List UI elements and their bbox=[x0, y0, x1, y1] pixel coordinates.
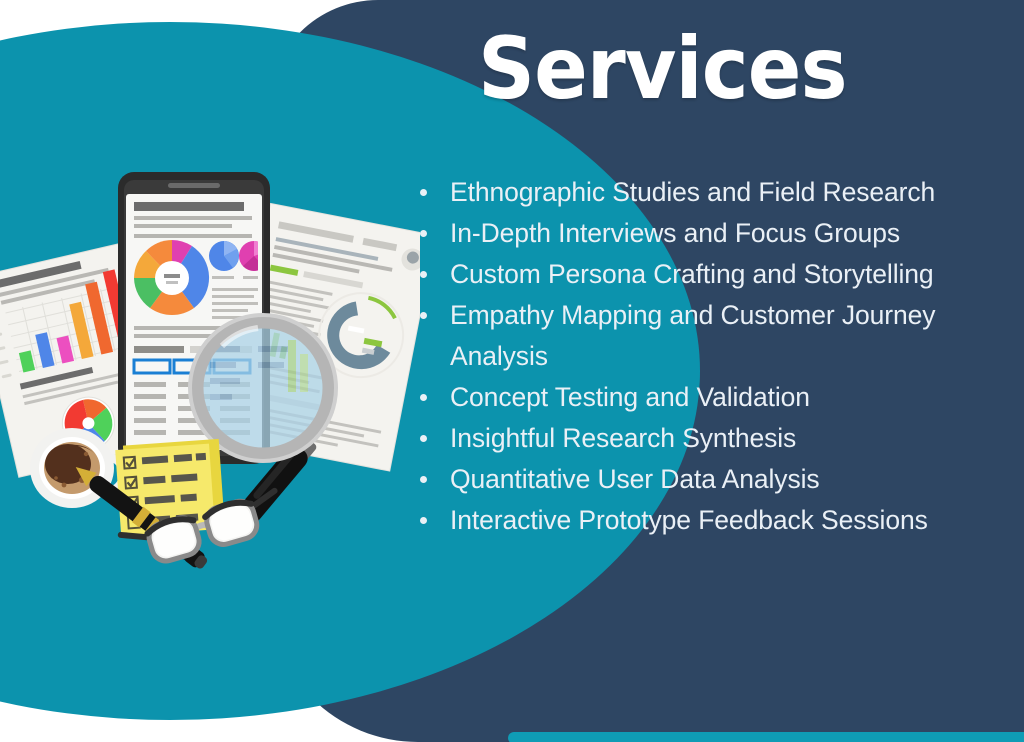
list-item: Ethnographic Studies and Field Research bbox=[404, 172, 1024, 213]
list-item: Interactive Prototype Feedback Sessions bbox=[404, 500, 1024, 541]
list-item: Insightful Research Synthesis bbox=[404, 418, 1024, 459]
list-item-label: In-Depth Interviews and Focus Groups bbox=[450, 218, 900, 248]
services-list: Ethnographic Studies and Field Research … bbox=[404, 172, 1024, 541]
bullet-dot-icon bbox=[420, 476, 427, 483]
bullet-dot-icon bbox=[420, 435, 427, 442]
slide-canvas: Services Ethnographic Studies and Field … bbox=[0, 0, 1024, 742]
page-title: Services bbox=[478, 26, 847, 112]
bullet-dot-icon bbox=[420, 271, 427, 278]
list-item-label: Ethnographic Studies and Field Research bbox=[450, 177, 935, 207]
list-item: Custom Persona Crafting and Storytelling bbox=[404, 254, 1024, 295]
list-item: Concept Testing and Validation bbox=[404, 377, 1024, 418]
list-item-label: Interactive Prototype Feedback Sessions bbox=[450, 505, 928, 535]
bullet-dot-icon bbox=[420, 517, 427, 524]
bottom-accent-bar bbox=[508, 732, 1024, 742]
list-item-label: Insightful Research Synthesis bbox=[450, 423, 796, 453]
list-item-label: Quantitative User Data Analysis bbox=[450, 464, 820, 494]
bullet-dot-icon bbox=[420, 312, 427, 319]
list-item: In-Depth Interviews and Focus Groups bbox=[404, 213, 1024, 254]
list-item-label: Empathy Mapping and Customer Journey Ana… bbox=[450, 300, 935, 371]
slide-content: Services Ethnographic Studies and Field … bbox=[0, 0, 1024, 742]
list-item-label: Custom Persona Crafting and Storytelling bbox=[450, 259, 934, 289]
bullet-dot-icon bbox=[420, 189, 427, 196]
list-item-label: Concept Testing and Validation bbox=[450, 382, 810, 412]
bullet-dot-icon bbox=[420, 230, 427, 237]
list-item: Empathy Mapping and Customer Journey Ana… bbox=[404, 295, 1024, 377]
list-item: Quantitative User Data Analysis bbox=[404, 459, 1024, 500]
bullet-dot-icon bbox=[420, 394, 427, 401]
